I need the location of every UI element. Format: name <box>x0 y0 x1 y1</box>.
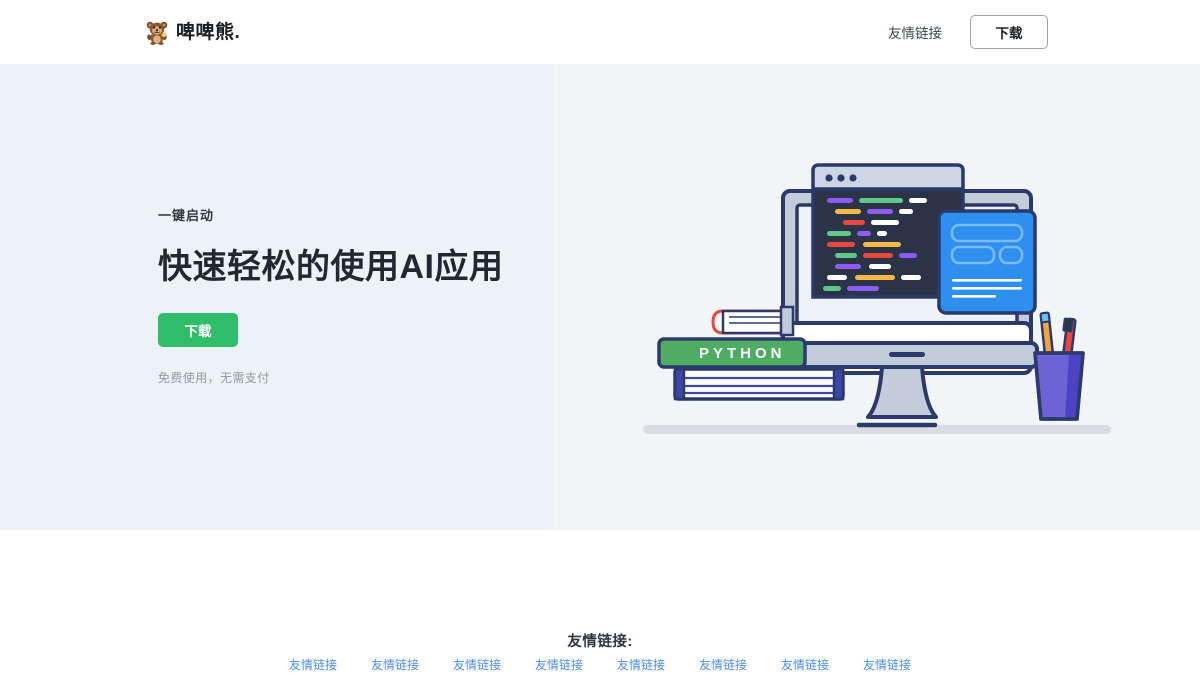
site-header: 啤啤熊. 友情链接 下载 <box>0 0 1200 64</box>
hero-download-button[interactable]: 下载 <box>158 313 238 347</box>
header-download-button[interactable]: 下载 <box>970 15 1048 49</box>
developer-workstation-illustration: PYTHON <box>637 147 1117 447</box>
python-book-label: PYTHON <box>699 345 786 362</box>
hero-subnote: 免费使用，无需支付 <box>158 369 518 386</box>
pen-cup-shape <box>1035 313 1083 419</box>
site-footer: 友情链接: 友情链接 友情链接 友情链接 友情链接 友情链接 友情链接 友情链接… <box>0 530 1200 659</box>
brand-logo[interactable]: 啤啤熊. <box>144 19 240 45</box>
hero-headline: 快速轻松的使用AI应用 <box>158 248 518 287</box>
header-nav: 友情链接 下载 <box>888 15 1048 49</box>
bear-mascot-icon <box>144 19 170 45</box>
hero-copy: 一键启动 快速轻松的使用AI应用 下载 免费使用，无需支付 <box>158 205 518 386</box>
brand-name: 啤啤熊. <box>176 23 240 42</box>
hero-section: 一键启动 快速轻松的使用AI应用 下载 免费使用，无需支付 <box>0 64 1200 530</box>
nav-link-friendly-links[interactable]: 友情链接 <box>888 22 942 42</box>
hero-illustration-panel: PYTHON <box>553 64 1200 530</box>
footer-title: 友情链接: <box>0 630 1200 651</box>
blue-overlay-card <box>939 211 1035 313</box>
hero-eyebrow: 一键启动 <box>158 205 518 224</box>
